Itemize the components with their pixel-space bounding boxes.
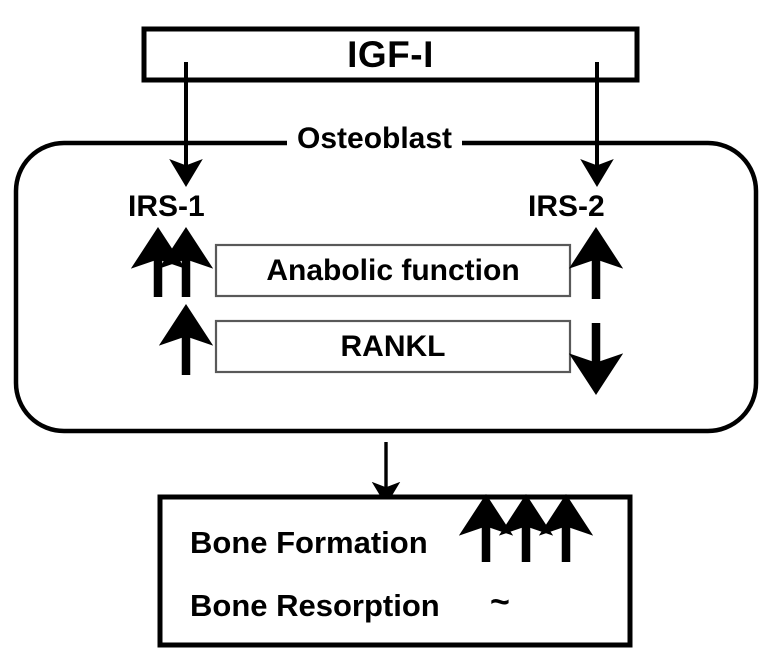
anabolic-function-label: Anabolic function bbox=[216, 245, 570, 296]
igf-box-label: IGF-I bbox=[144, 29, 637, 80]
tilde-icon: ~ bbox=[490, 585, 510, 619]
irs-1-label: IRS-1 bbox=[128, 192, 205, 222]
bone-resorption-row: Bone Resorption ~ bbox=[190, 585, 610, 627]
pathway-diagram: IGF-I Osteoblast IRS-1 IRS-2 Anabolic fu… bbox=[0, 0, 774, 666]
bone-formation-label: Bone Formation bbox=[190, 525, 428, 561]
rankl-label: RANKL bbox=[216, 321, 570, 372]
bone-resorption-label: Bone Resorption bbox=[190, 588, 440, 624]
osteoblast-cell-label: Osteoblast bbox=[287, 124, 462, 154]
bone-formation-row: Bone Formation bbox=[190, 522, 610, 564]
irs-2-label: IRS-2 bbox=[528, 192, 605, 222]
bone-resorption-marks: ~ bbox=[472, 585, 492, 627]
